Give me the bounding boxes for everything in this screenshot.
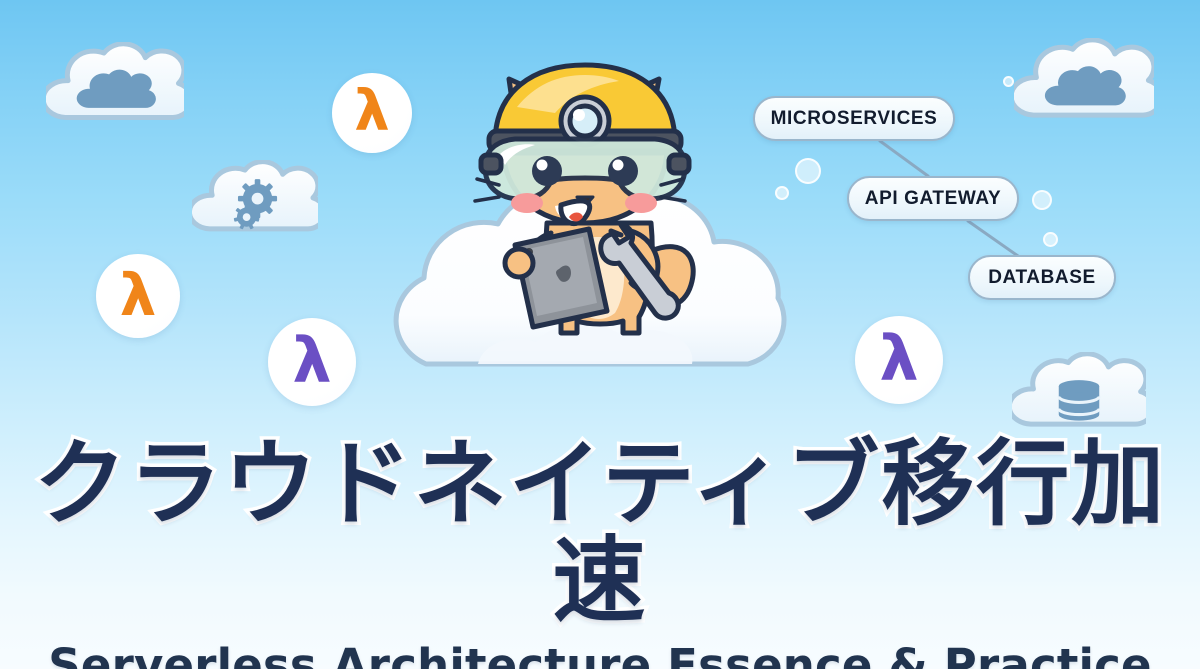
connector-microservices-to-api-gateway (880, 141, 928, 176)
lambda-glyph: λ (292, 330, 331, 392)
lambda-icon-lambda-mid-purple: λ (268, 318, 356, 406)
page-subtitle: Serverless Architecture Essence & Practi… (0, 639, 1200, 669)
badge-label-api-gateway: API GATEWAY (865, 188, 1001, 210)
lambda-glyph: λ (120, 266, 157, 324)
badge-api-gateway[interactable]: API GATEWAY (847, 176, 1019, 221)
badge-label-database: DATABASE (988, 267, 1096, 289)
decorative-bubble-bubble-a (795, 158, 821, 184)
decorative-bubble-bubble-d (1043, 232, 1058, 247)
lambda-icon-lambda-top-orange: λ (332, 73, 412, 153)
title-block: クラウドネイティブ移行加速Serverless Architecture Ess… (0, 436, 1200, 669)
badge-microservices[interactable]: MICROSERVICES (753, 96, 955, 141)
lambda-glyph: λ (879, 328, 918, 390)
lambda-icon-lambda-right-purple: λ (855, 316, 943, 404)
lambda-glyph: λ (354, 84, 389, 140)
connector-api-gateway-to-database (968, 221, 1018, 256)
badge-database[interactable]: DATABASE (968, 255, 1116, 300)
page-title: クラウドネイティブ移行加速 (0, 436, 1200, 629)
decorative-bubble-bubble-c (1032, 190, 1052, 210)
hero-banner: λλλλMICROSERVICESAPI GATEWAYDATABASEクラウド… (0, 0, 1200, 669)
decorative-bubble-bubble-e (1003, 76, 1014, 87)
decorative-bubble-bubble-b (775, 186, 789, 200)
lambda-icon-lambda-left-orange: λ (96, 254, 180, 338)
badge-label-microservices: MICROSERVICES (771, 108, 938, 130)
